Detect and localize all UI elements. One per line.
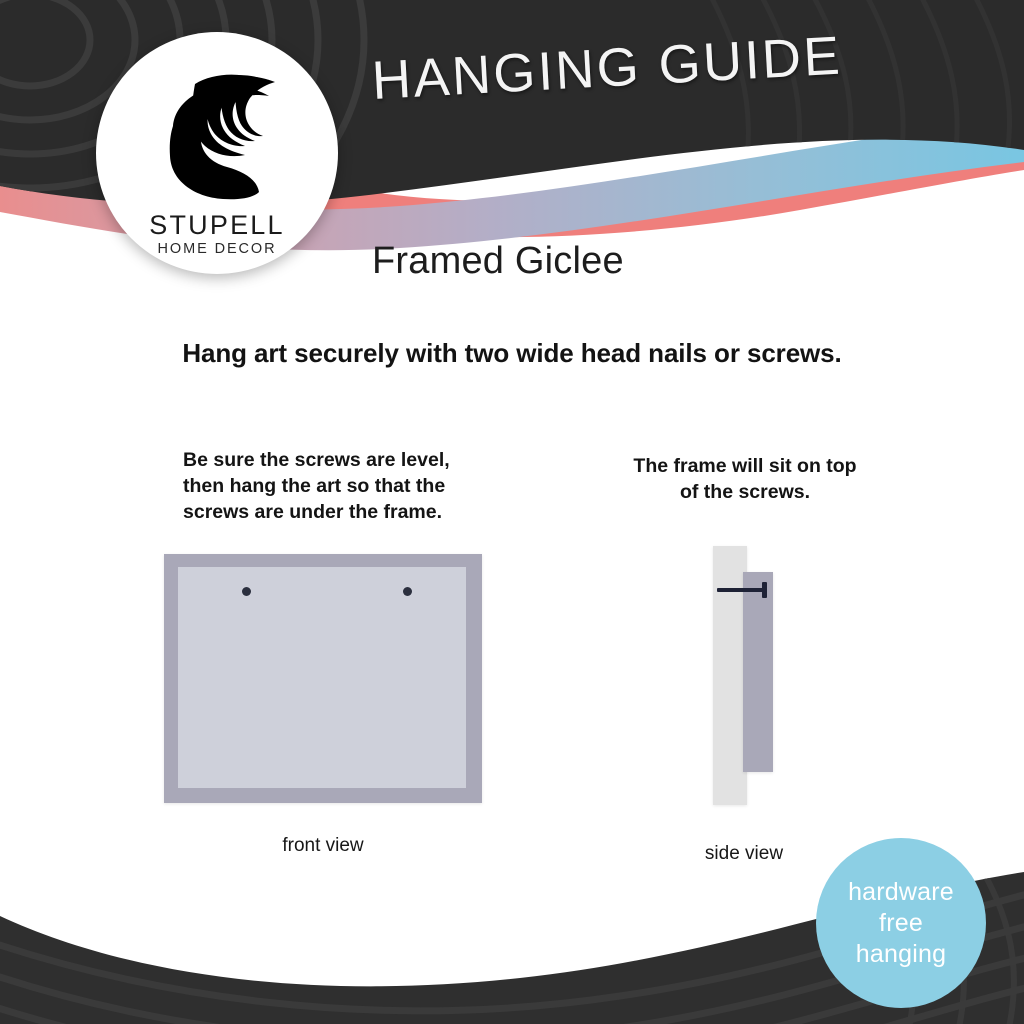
front-caption-line-3: screws are under the frame. (183, 499, 473, 525)
side-view-wall (713, 546, 747, 805)
front-view-label: front view (164, 835, 482, 857)
badge-line-1: hardware (848, 877, 954, 908)
front-view-caption: Be sure the screws are level, then hang … (183, 447, 473, 525)
logo-subtitle: HOME DECOR (96, 241, 338, 257)
hanging-guide-page: STUPELL HOME DECOR HANGING GUIDE Framed … (0, 0, 1024, 1024)
side-caption-line-1: The frame will sit on top (600, 453, 890, 479)
side-view-frame (743, 572, 773, 772)
side-view-diagram (705, 546, 785, 808)
page-title: HANGING GUIDE (370, 25, 843, 112)
hardware-free-hanging-badge: hardware free hanging (816, 838, 986, 1008)
front-caption-line-2: then hang the art so that the (183, 473, 473, 499)
front-view-frame-inner (178, 567, 466, 788)
product-name: Framed Giclee (372, 240, 624, 283)
screw-dot-left (242, 587, 251, 596)
stupell-swoosh-icon (153, 68, 281, 200)
nail-head-icon (762, 582, 767, 598)
brand-logo-badge: STUPELL HOME DECOR (96, 32, 338, 274)
lede-text: Hang art securely with two wide head nai… (0, 338, 1024, 369)
badge-line-2: free (879, 908, 923, 939)
side-view-label: side view (664, 843, 824, 865)
side-view-caption: The frame will sit on top of the screws. (600, 453, 890, 505)
side-caption-line-2: of the screws. (600, 479, 890, 505)
front-view-frame-diagram (164, 554, 482, 803)
screw-dot-right (403, 587, 412, 596)
badge-line-3: hanging (856, 939, 946, 970)
logo-wordmark: STUPELL (96, 210, 338, 241)
front-caption-line-1: Be sure the screws are level, (183, 447, 473, 473)
nail-shaft-icon (717, 588, 766, 592)
